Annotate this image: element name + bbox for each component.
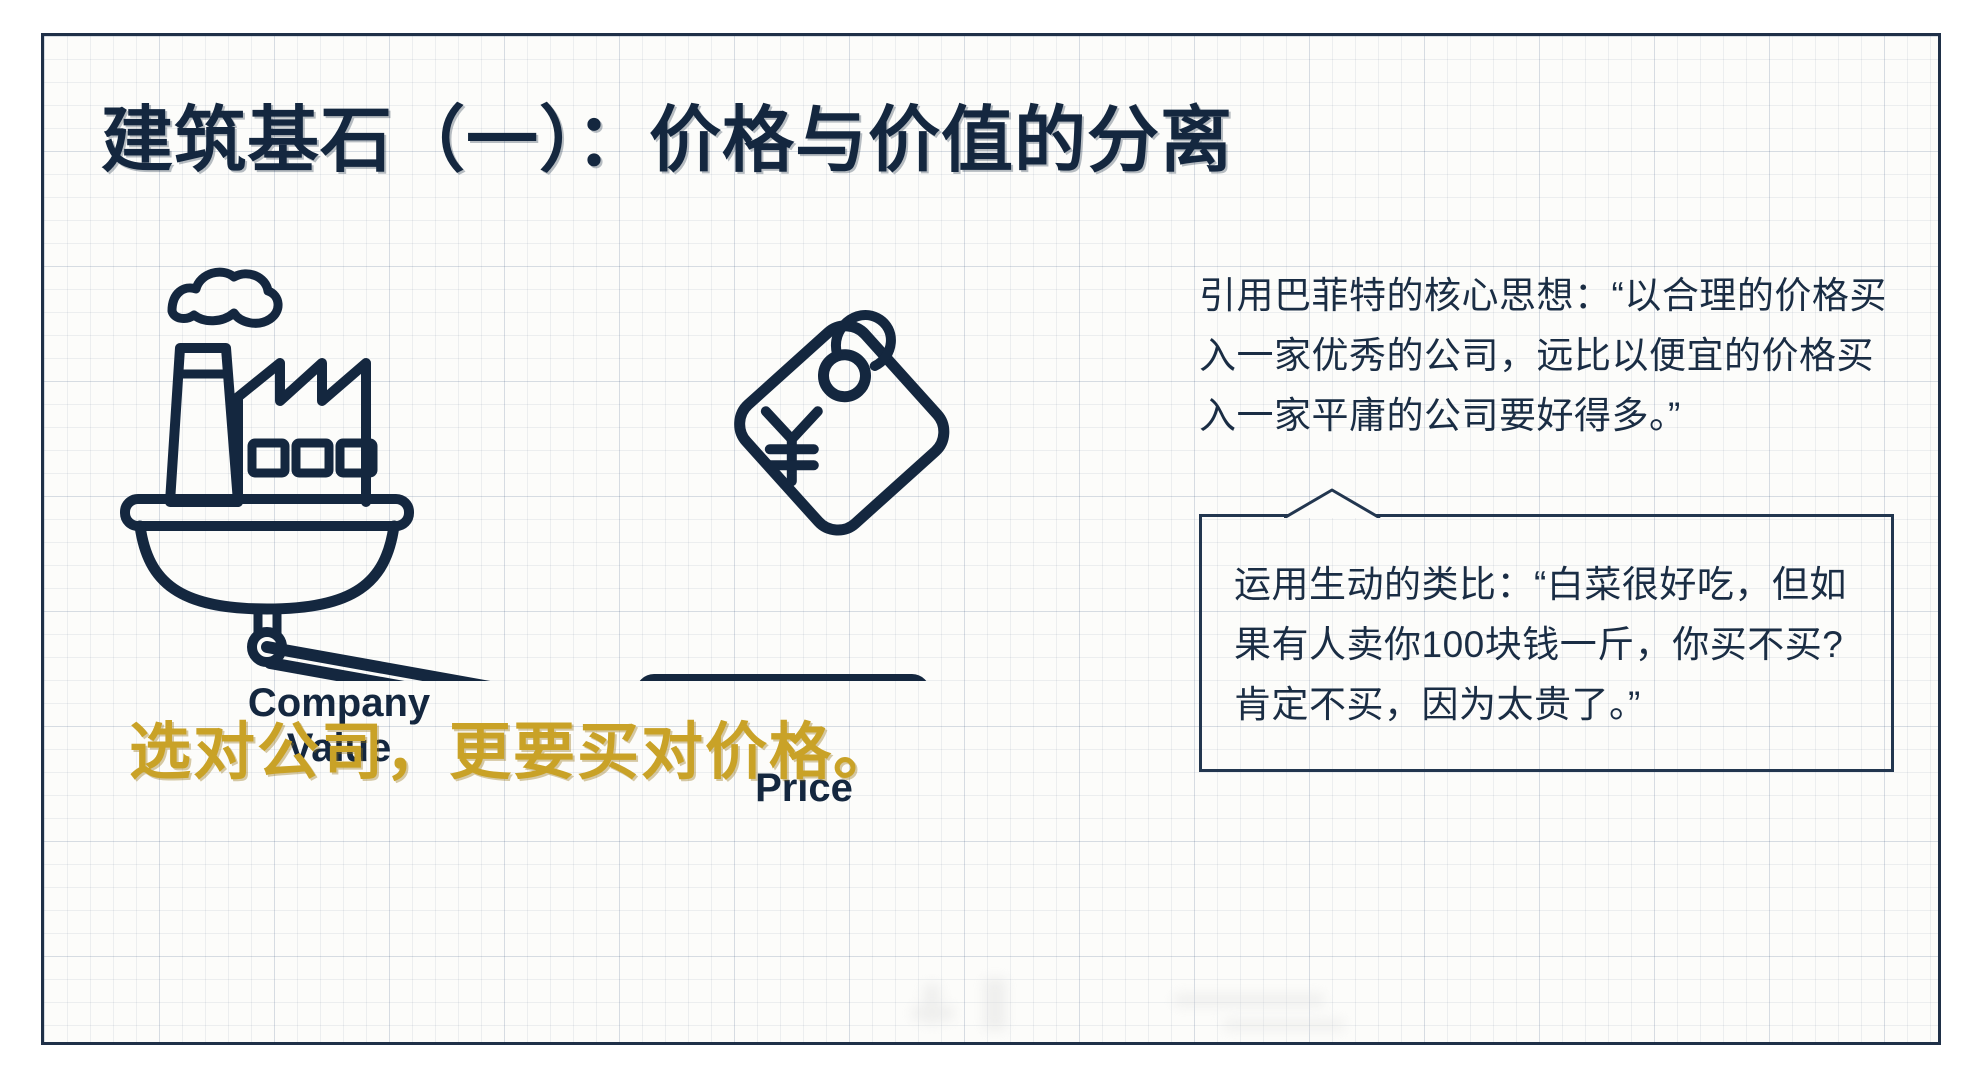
page-title: 建筑基石（一）：价格与价值的分离 [101, 81, 1233, 186]
buffett-quote-text: 引用巴菲特的核心思想：“以合理的价格买入一家优秀的公司，远比以便宜的价格买入一家… [1199, 266, 1894, 446]
right-column: 引用巴菲特的核心思想：“以合理的价格买入一家优秀的公司，远比以便宜的价格买入一家… [1199, 36, 1904, 1045]
watermark [924, 976, 1364, 1031]
slide-card: 建筑基石（一）：价格与价值的分离 [41, 33, 1941, 1045]
factory-icon [170, 272, 373, 502]
balance-scale-illustration: Company Value Price [114, 211, 994, 681]
left-pan [125, 499, 409, 662]
right-pan [641, 679, 925, 681]
price-tag-icon [720, 300, 971, 549]
analogy-callout-box: 运用生动的类比：“白菜很好吃，但如果有人卖你100块钱一斤，你买不买? 肯定不买… [1199, 514, 1894, 772]
balance-scale-svg [114, 211, 994, 681]
callout-tail-icon [1284, 488, 1404, 518]
analogy-text: 运用生动的类比：“白菜很好吃，但如果有人卖你100块钱一斤，你买不买? 肯定不买… [1234, 555, 1861, 735]
tagline: 选对公司，更要买对价格。 [129, 701, 897, 791]
